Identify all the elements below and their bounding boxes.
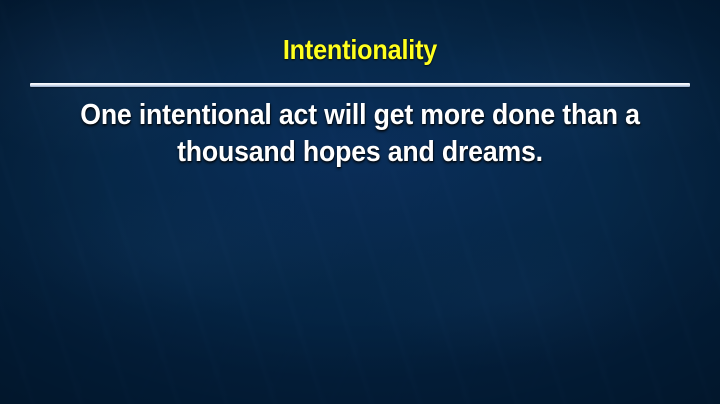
presentation-slide: Intentionality One intentional act will … <box>0 0 720 404</box>
body-line-1: One intentional act will get more done t… <box>56 97 663 134</box>
body-line-2: thousand hopes and dreams. <box>56 134 663 171</box>
slide-title: Intentionality <box>36 36 684 64</box>
slide-body: One intentional act will get more done t… <box>30 97 690 171</box>
title-divider <box>30 83 690 87</box>
slide-content: Intentionality One intentional act will … <box>0 0 720 404</box>
